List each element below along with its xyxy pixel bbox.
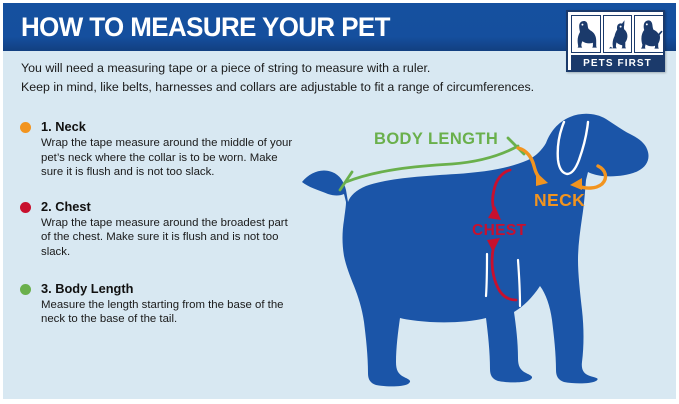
intro-paragraph: You will need a measuring tape or a piec… bbox=[21, 59, 566, 97]
intro-line-2: Keep in mind, like belts, harnesses and … bbox=[21, 78, 566, 97]
bullet-body-length bbox=[20, 284, 31, 295]
measurement-steps-list: 1. Neck Wrap the tape measure around the… bbox=[18, 118, 296, 341]
body-length-label: BODY LENGTH bbox=[374, 130, 498, 148]
dog-standing-icon bbox=[634, 15, 664, 53]
brand-logo: PETS FIRST bbox=[566, 10, 665, 72]
list-item-chest: 2. Chest Wrap the tape measure around th… bbox=[18, 198, 296, 260]
step-title-body-length: 3. Body Length bbox=[41, 280, 296, 297]
step-title-chest: 2. Chest bbox=[41, 198, 296, 215]
dog-sitting-icon bbox=[571, 15, 601, 53]
intro-line-1: You will need a measuring tape or a piec… bbox=[21, 59, 566, 78]
neck-label: NECK bbox=[534, 190, 585, 210]
step-title-neck: 1. Neck bbox=[41, 118, 296, 135]
step-description-neck: Wrap the tape measure around the middle … bbox=[41, 136, 296, 180]
logo-wordmark: PETS FIRST bbox=[571, 55, 664, 70]
dog-silhouette bbox=[302, 114, 649, 387]
list-item-neck: 1. Neck Wrap the tape measure around the… bbox=[18, 118, 296, 180]
logo-icon-row bbox=[571, 15, 664, 53]
dog-begging-icon bbox=[603, 15, 633, 53]
step-description-chest: Wrap the tape measure around the broades… bbox=[41, 216, 296, 260]
dog-measurement-diagram: BODY LENGTH NECK CHEST bbox=[296, 110, 676, 400]
list-item-body-length: 3. Body Length Measure the length starti… bbox=[18, 280, 296, 327]
chest-label: CHEST bbox=[472, 222, 527, 239]
bullet-neck bbox=[20, 122, 31, 133]
measurement-guide-page: HOW TO MEASURE YOUR PET PETS FIRST bbox=[0, 0, 679, 404]
bullet-chest bbox=[20, 202, 31, 213]
step-description-body-length: Measure the length starting from the bas… bbox=[41, 298, 296, 327]
page-title: HOW TO MEASURE YOUR PET bbox=[21, 12, 390, 42]
